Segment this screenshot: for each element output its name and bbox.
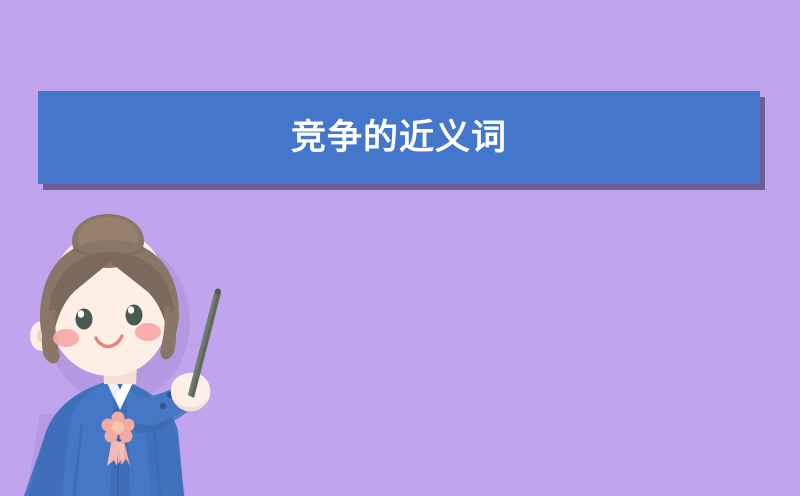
cuff-button [160,403,166,409]
slide-canvas: 竞争的近义词 [0,0,800,496]
teacher-illustration [18,214,248,496]
title-banner: 竞争的近义词 [38,91,760,184]
page-title: 竞争的近义词 [291,120,507,155]
